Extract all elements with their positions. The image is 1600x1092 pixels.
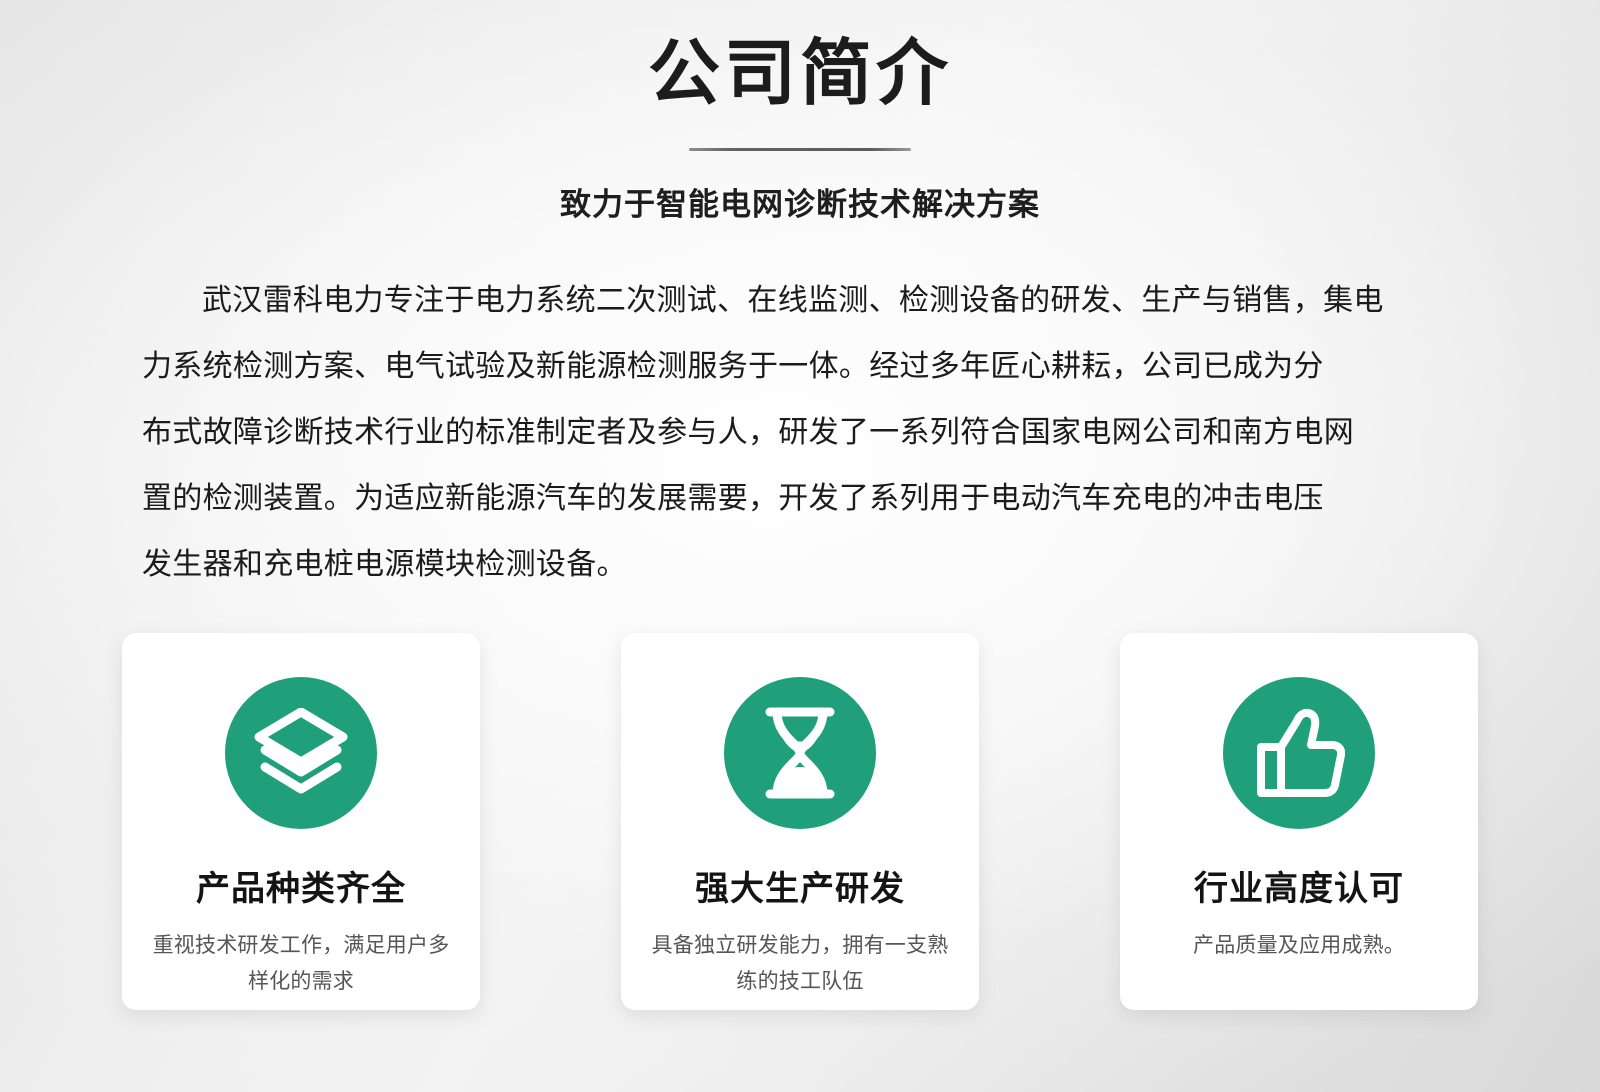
feature-card-product-range[interactable]: 产品种类齐全 重视技术研发工作，满足用户多样化的需求 <box>122 633 480 1010</box>
page-subtitle: 致力于智能电网诊断技术解决方案 <box>0 179 1600 224</box>
icon-badge <box>1223 677 1375 829</box>
icon-badge <box>225 677 377 829</box>
page-title: 公司简介 <box>0 38 1600 110</box>
card-title: 产品种类齐全 <box>196 871 406 908</box>
intro-line-3: 布式故障诊断技术行业的标准制定者及参与人，研发了一系列符合国家电网公司和南方电网 <box>142 400 1458 466</box>
company-profile-page: 公司简介 致力于智能电网诊断技术解决方案 武汉雷科电力专注于电力系统二次测试、在… <box>0 0 1600 1092</box>
intro-paragraph: 武汉雷科电力专注于电力系统二次测试、在线监测、检测设备的研发、生产与销售，集电 … <box>142 268 1458 598</box>
card-title: 行业高度认可 <box>1194 871 1404 908</box>
thumbs-up-icon <box>1253 707 1345 799</box>
icon-badge <box>724 677 876 829</box>
intro-line-4: 置的检测装置。为适应新能源汽车的发展需要，开发了系列用于电动汽车充电的冲击电压 <box>142 466 1458 532</box>
card-title: 强大生产研发 <box>695 871 905 908</box>
page-header: 公司简介 致力于智能电网诊断技术解决方案 <box>0 0 1600 224</box>
card-description: 产品质量及应用成熟。 <box>1149 928 1449 964</box>
intro-line-1: 武汉雷科电力专注于电力系统二次测试、在线监测、检测设备的研发、生产与销售，集电 <box>142 268 1458 334</box>
title-divider <box>689 148 911 151</box>
feature-card-rnd[interactable]: 强大生产研发 具备独立研发能力，拥有一支熟练的技工队伍 <box>621 633 979 1010</box>
intro-line-5: 发生器和充电桩电源模块检测设备。 <box>142 532 1458 598</box>
card-description: 具备独立研发能力，拥有一支熟练的技工队伍 <box>650 928 950 1000</box>
hourglass-icon <box>760 706 840 800</box>
feature-card-recognition[interactable]: 行业高度认可 产品质量及应用成熟。 <box>1120 633 1478 1010</box>
feature-card-list: 产品种类齐全 重视技术研发工作，满足用户多样化的需求 强大生产研发 具备独立研 <box>122 633 1478 1010</box>
intro-line-2: 力系统检测方案、电气试验及新能源检测服务于一体。经过多年匠心耕耘，公司已成为分 <box>142 334 1458 400</box>
layers-icon <box>253 708 349 798</box>
card-description: 重视技术研发工作，满足用户多样化的需求 <box>151 928 451 1000</box>
